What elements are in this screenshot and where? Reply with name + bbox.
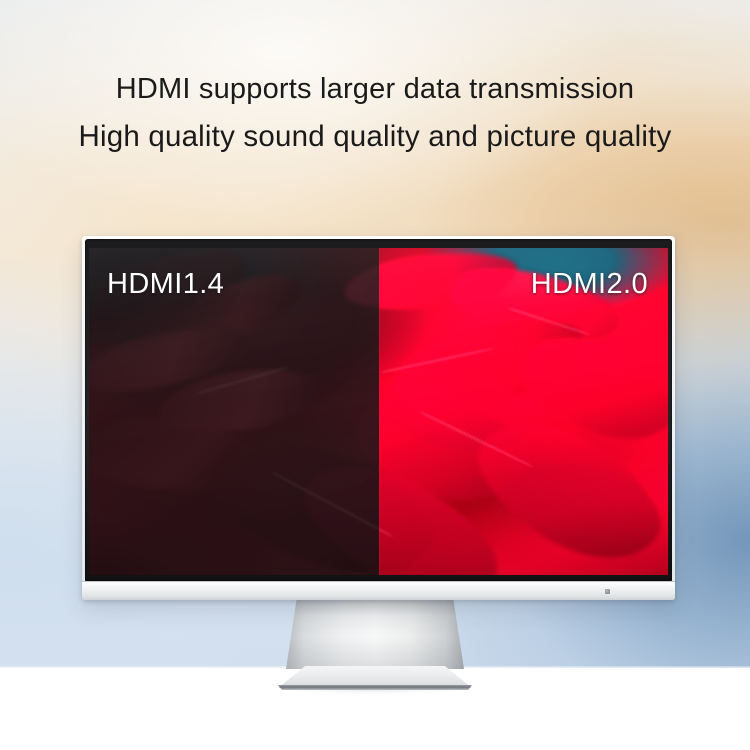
- stand-base-edge: [278, 685, 472, 690]
- stand-drop-shadow: [262, 686, 488, 695]
- stand-base: [278, 666, 472, 688]
- table-surface: [0, 668, 750, 750]
- monitor-bottom-bezel: [82, 581, 675, 600]
- headline-line-1: HDMI supports larger data transmission: [0, 66, 750, 113]
- monitor: HDMI1.4 HDMI2.0: [82, 236, 675, 600]
- headline-line-2: High quality sound quality and picture q…: [0, 113, 750, 160]
- stand-neck: [286, 599, 464, 669]
- screen-label-hdmi-2-0: HDMI2.0: [531, 270, 648, 299]
- screen-label-hdmi-1-4: HDMI1.4: [107, 270, 224, 299]
- bottom-bezel-top-edge: [82, 581, 675, 582]
- table-horizon-line: [0, 666, 750, 669]
- stand-neck-shading: [286, 599, 464, 669]
- product-image-canvas: HDMI supports larger data transmission H…: [0, 0, 750, 750]
- headline-block: HDMI supports larger data transmission H…: [0, 66, 750, 160]
- monitor-screen: HDMI1.4 HDMI2.0: [89, 248, 668, 575]
- monitor-inner-frame: HDMI1.4 HDMI2.0: [85, 239, 672, 581]
- power-led-icon: [605, 589, 610, 594]
